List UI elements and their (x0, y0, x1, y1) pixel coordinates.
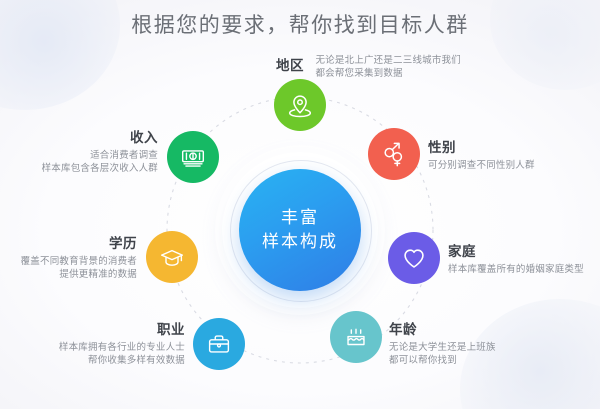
label-gender: 性别 (428, 136, 593, 156)
label-occupation: 职业 (25, 318, 185, 338)
page-title: 根据您的要求，帮你找到目标人群 (0, 9, 600, 39)
infographic-canvas: 根据您的要求，帮你找到目标人群 丰富 样本构成 地区 无论是北上广还是二三线城市… (0, 0, 600, 409)
desc-occupation: 样本库拥有各行业的专业人士 帮你收集多样有效数据 (25, 341, 185, 367)
label-region: 地区 (276, 54, 304, 74)
text-region: 地区 无论是北上广还是二三线城市我们 都会帮您采集到数据 (276, 54, 486, 80)
desc-income: 适合消费者调查 样本库包含各层次收入人群 (10, 149, 158, 175)
location-pin-icon (285, 90, 315, 120)
node-region[interactable] (274, 79, 326, 131)
label-education: 学历 (2, 232, 137, 252)
gender-symbols-icon (379, 139, 409, 169)
desc-education: 覆盖不同教育背景的消费者 提供更精准的数据 (2, 255, 137, 281)
banknote-icon (178, 142, 208, 172)
desc-age: 无论是大学生还是上班族 都可以帮你找到 (389, 341, 549, 367)
text-education: 学历 覆盖不同教育背景的消费者 提供更精准的数据 (2, 232, 137, 281)
desc-region: 无论是北上广还是二三线城市我们 都会帮您采集到数据 (315, 54, 461, 80)
node-age[interactable] (330, 311, 382, 363)
graduation-cap-icon (157, 242, 187, 272)
center-orb: 丰富 样本构成 (239, 169, 361, 291)
desc-gender: 可分别调查不同性别人群 (428, 159, 593, 172)
text-age: 年龄 无论是大学生还是上班族 都可以帮你找到 (389, 318, 549, 367)
node-gender[interactable] (368, 128, 420, 180)
text-gender: 性别 可分别调查不同性别人群 (428, 136, 593, 172)
node-income[interactable] (167, 131, 219, 183)
heart-icon (399, 243, 429, 273)
text-occupation: 职业 样本库拥有各行业的专业人士 帮你收集多样有效数据 (25, 318, 185, 367)
briefcase-icon (204, 329, 234, 359)
node-family[interactable] (388, 232, 440, 284)
node-education[interactable] (146, 231, 198, 283)
birthday-cake-icon (341, 322, 371, 352)
node-occupation[interactable] (193, 318, 245, 370)
text-family: 家庭 样本库覆盖所有的婚姻家庭类型 (448, 240, 598, 276)
label-family: 家庭 (448, 240, 598, 260)
label-age: 年龄 (389, 318, 549, 338)
label-income: 收入 (10, 126, 158, 146)
center-line-2: 样本构成 (262, 230, 338, 254)
desc-family: 样本库覆盖所有的婚姻家庭类型 (448, 263, 598, 276)
text-income: 收入 适合消费者调查 样本库包含各层次收入人群 (10, 126, 158, 175)
center-line-1: 丰富 (281, 206, 319, 230)
